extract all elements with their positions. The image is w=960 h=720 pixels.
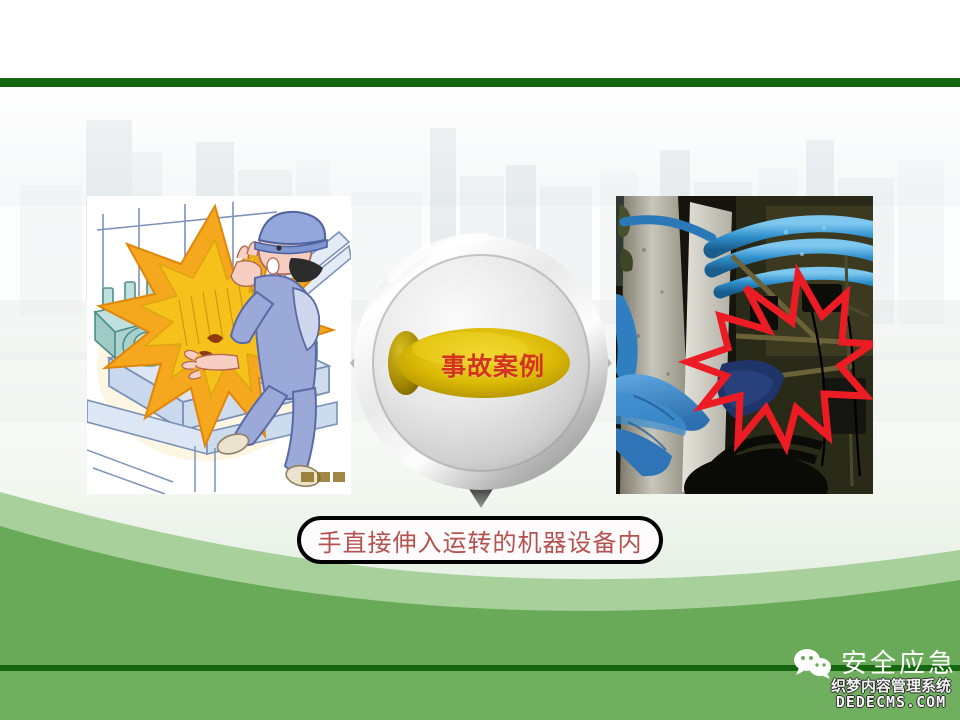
accident-illustration	[87, 196, 351, 494]
footer-brand-name: 安全应急	[841, 651, 957, 677]
caption-text: 手直接伸入运转的机器设备内	[318, 523, 643, 558]
watermark-line-2: DEDECMS.COM	[822, 695, 960, 710]
watermark-line-1: 织梦内容管理系统	[822, 679, 960, 694]
site-watermark: 织梦内容管理系统 DEDECMS.COM	[822, 679, 960, 710]
slide-canvas: 事故案例 手直接伸入运转的机器设备内 安全应急 织梦内容管理系统 DEDECMS…	[0, 0, 960, 720]
caption-pill: 手直接伸入运转的机器设备内	[297, 516, 663, 564]
footer-brand: 安全应急	[793, 648, 957, 680]
center-badge[interactable]: 事故案例	[350, 216, 612, 508]
wechat-icon	[793, 648, 833, 680]
top-divider-rule	[0, 78, 960, 87]
accident-photo	[616, 196, 873, 494]
